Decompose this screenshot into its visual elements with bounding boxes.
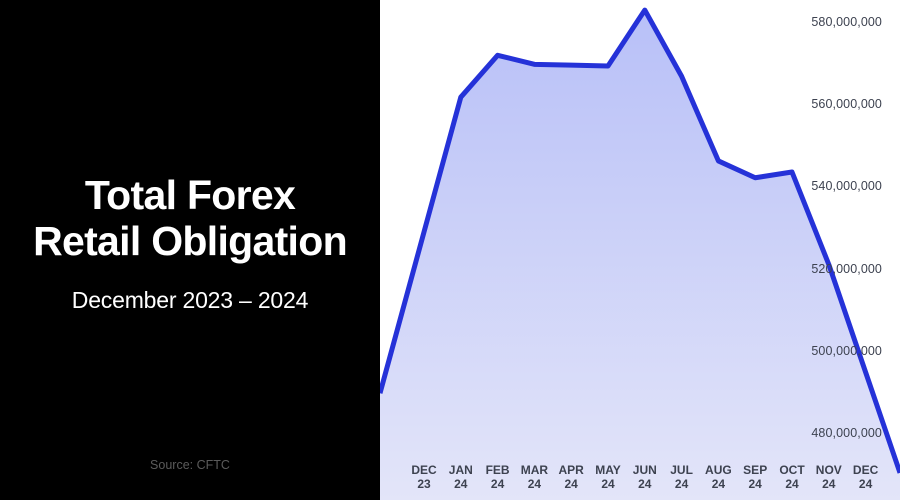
x-axis-tick-year: 24 bbox=[521, 477, 548, 491]
source-note: Source: CFTC bbox=[0, 458, 380, 472]
title-panel: Total ForexRetail Obligation December 20… bbox=[0, 0, 380, 500]
title-block: Total ForexRetail Obligation December 20… bbox=[0, 172, 380, 314]
infographic-page: Total ForexRetail Obligation December 20… bbox=[0, 0, 900, 500]
x-axis-tick-year: 24 bbox=[670, 477, 693, 491]
x-axis-tick: SEP24 bbox=[743, 463, 767, 491]
x-axis-tick-month: MAY bbox=[595, 463, 621, 477]
x-axis-tick-year: 24 bbox=[595, 477, 621, 491]
x-axis-tick: DEC24 bbox=[853, 463, 878, 491]
x-axis-tick: AUG24 bbox=[705, 463, 732, 491]
x-axis-tick-month: SEP bbox=[743, 463, 767, 477]
x-axis-tick-year: 24 bbox=[853, 477, 878, 491]
x-axis-tick: MAY24 bbox=[595, 463, 621, 491]
x-axis-tick-month: DEC bbox=[853, 463, 878, 477]
x-axis-tick-year: 23 bbox=[411, 477, 436, 491]
x-axis-tick-month: APR bbox=[559, 463, 584, 477]
x-axis-tick-month: JUL bbox=[670, 463, 693, 477]
x-axis-tick-year: 24 bbox=[559, 477, 584, 491]
x-axis-tick: JAN24 bbox=[449, 463, 473, 491]
x-axis-tick: FEB24 bbox=[486, 463, 510, 491]
x-axis-tick-year: 24 bbox=[816, 477, 842, 491]
chart-panel: 580,000,000560,000,000540,000,000520,000… bbox=[380, 0, 900, 500]
x-axis-tick: MAR24 bbox=[521, 463, 548, 491]
x-axis-tick-month: AUG bbox=[705, 463, 732, 477]
x-axis-tick: APR24 bbox=[559, 463, 584, 491]
page-title-line1: Total Forex bbox=[85, 172, 295, 218]
x-axis-tick-month: DEC bbox=[411, 463, 436, 477]
x-axis-tick-year: 24 bbox=[449, 477, 473, 491]
area-chart-svg bbox=[380, 0, 900, 500]
x-axis: DEC23JAN24FEB24MAR24APR24MAY24JUN24JUL24… bbox=[380, 442, 900, 500]
x-axis-tick-year: 24 bbox=[486, 477, 510, 491]
area-fill bbox=[380, 10, 900, 500]
page-title-line2: Retail Obligation bbox=[18, 218, 362, 264]
x-axis-tick-month: MAR bbox=[521, 463, 548, 477]
x-axis-tick: JUL24 bbox=[670, 463, 693, 491]
x-axis-tick: JUN24 bbox=[633, 463, 657, 491]
x-axis-tick-year: 24 bbox=[633, 477, 657, 491]
x-axis-tick-year: 24 bbox=[779, 477, 804, 491]
x-axis-tick-month: JUN bbox=[633, 463, 657, 477]
x-axis-tick: NOV24 bbox=[816, 463, 842, 491]
page-title: Total ForexRetail Obligation bbox=[18, 172, 362, 264]
x-axis-tick-year: 24 bbox=[705, 477, 732, 491]
x-axis-tick-month: NOV bbox=[816, 463, 842, 477]
x-axis-tick-month: OCT bbox=[779, 463, 804, 477]
x-axis-tick-month: JAN bbox=[449, 463, 473, 477]
x-axis-tick-year: 24 bbox=[743, 477, 767, 491]
x-axis-tick: DEC23 bbox=[411, 463, 436, 491]
x-axis-tick: OCT24 bbox=[779, 463, 804, 491]
x-axis-tick-month: FEB bbox=[486, 463, 510, 477]
page-subtitle: December 2023 – 2024 bbox=[18, 286, 362, 314]
